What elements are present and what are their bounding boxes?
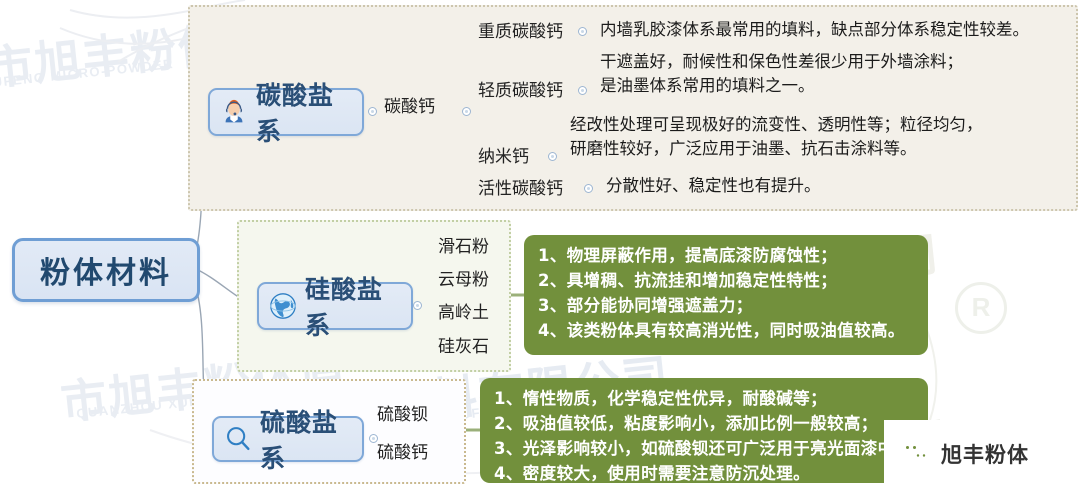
notes-sulfate: 1、惰性物质，化学稳定性优异，耐酸碱等； 2、吸油值较低，粘度影响小，添加比例一… — [480, 378, 928, 483]
root-node-powder-material[interactable]: 粉体材料 — [12, 238, 200, 302]
connector-dot — [462, 107, 471, 116]
wechat-icon — [898, 437, 932, 471]
connector-dot — [368, 107, 377, 116]
magnifier-icon — [223, 424, 253, 454]
note-line: 3、光泽影响较小，如硫酸钡还可广泛用于亮光面漆中 — [494, 436, 914, 461]
leaf-mica: 云母粉 — [438, 265, 489, 290]
watermark-registered-icon: R — [955, 282, 1007, 334]
leaf-wollastonite: 硅灰石 — [438, 332, 489, 357]
leaf-nano-calcium: 纳米钙 — [478, 142, 529, 167]
root-node-label: 粉体材料 — [40, 248, 172, 292]
node-carbonate-label: 碳酸盐系 — [256, 76, 348, 148]
note-line: 3、部分能协同增强遮盖力； — [538, 293, 914, 318]
leaf-barium-sulfate: 硫酸钡 — [377, 400, 428, 425]
notes-silicate: 1、物理屏蔽作用，提高底漆防腐蚀性； 2、具增稠、抗流挂和增加稳定性特性； 3、… — [524, 235, 928, 355]
node-sulfate-series[interactable]: 硫酸盐系 — [212, 416, 364, 462]
connector-dot — [548, 152, 557, 161]
note-line: 2、吸油值较低，粘度影响小，添加比例一般较高； — [494, 411, 914, 436]
desc-activated-caco3: 分散性好、稳定性也有提升。 — [606, 174, 821, 198]
node-silicate-label: 硅酸盐系 — [305, 270, 397, 342]
watermark-text: XUFENG MICRO-POWDER — [0, 56, 175, 91]
operator-headset-icon — [219, 97, 249, 127]
leaf-activated-caco3: 活性碳酸钙 — [478, 174, 563, 199]
note-line: 1、物理屏蔽作用，提高底漆防腐蚀性； — [538, 243, 914, 268]
note-line: 4、密度较大，使用时需要注意防沉处理。 — [494, 461, 914, 486]
node-carbonate-series[interactable]: 碳酸盐系 — [208, 88, 364, 136]
connector-dot — [413, 301, 422, 310]
node-silicate-series[interactable]: 硅酸盐系 — [257, 282, 413, 330]
note-line: 1、惰性物质，化学稳定性优异，耐酸碱等； — [494, 386, 914, 411]
mindmap-canvas: 市旭丰粉体原 XUFENG MICRO-POWDER 料有限公司 QUANZHO… — [0, 0, 1080, 488]
leaf-talc: 滑石粉 — [438, 232, 489, 257]
wechat-account-label: 旭丰粉体 — [941, 439, 1029, 469]
connector-dot — [578, 86, 587, 95]
note-line: 2、具增稠、抗流挂和增加稳定性特性； — [538, 268, 914, 293]
desc-heavy-caco3: 内墙乳胶漆体系最常用的填料，缺点部分体系稳定性较差。 — [600, 18, 1029, 42]
desc-light-caco3: 干遮盖好，耐候性和保色性差很少用于外墙涂料； 是油墨体系常用的填料之一。 — [600, 50, 963, 98]
leaf-light-caco3: 轻质碳酸钙 — [478, 76, 563, 101]
wechat-account-badge[interactable]: 旭丰粉体 — [884, 420, 1080, 488]
leaf-calcium-sulfate: 硫酸钙 — [377, 438, 428, 463]
connector-dot — [578, 27, 587, 36]
desc-nano-calcium: 经改性处理可呈现极好的流变性、透明性等；粒径均匀， 研磨性较好，广泛应用于油墨、… — [570, 113, 983, 161]
node-sulfate-label: 硫酸盐系 — [260, 403, 348, 475]
connector-dot — [584, 184, 593, 193]
note-line: 4、该类粉体具有较高消光性，同时吸油值较高。 — [538, 318, 914, 343]
leaf-heavy-caco3: 重质碳酸钙 — [478, 17, 563, 42]
globe-icon — [268, 291, 298, 321]
leaf-kaolin: 高岭土 — [438, 298, 489, 323]
mid-label-calcium-carbonate: 碳酸钙 — [384, 92, 435, 117]
